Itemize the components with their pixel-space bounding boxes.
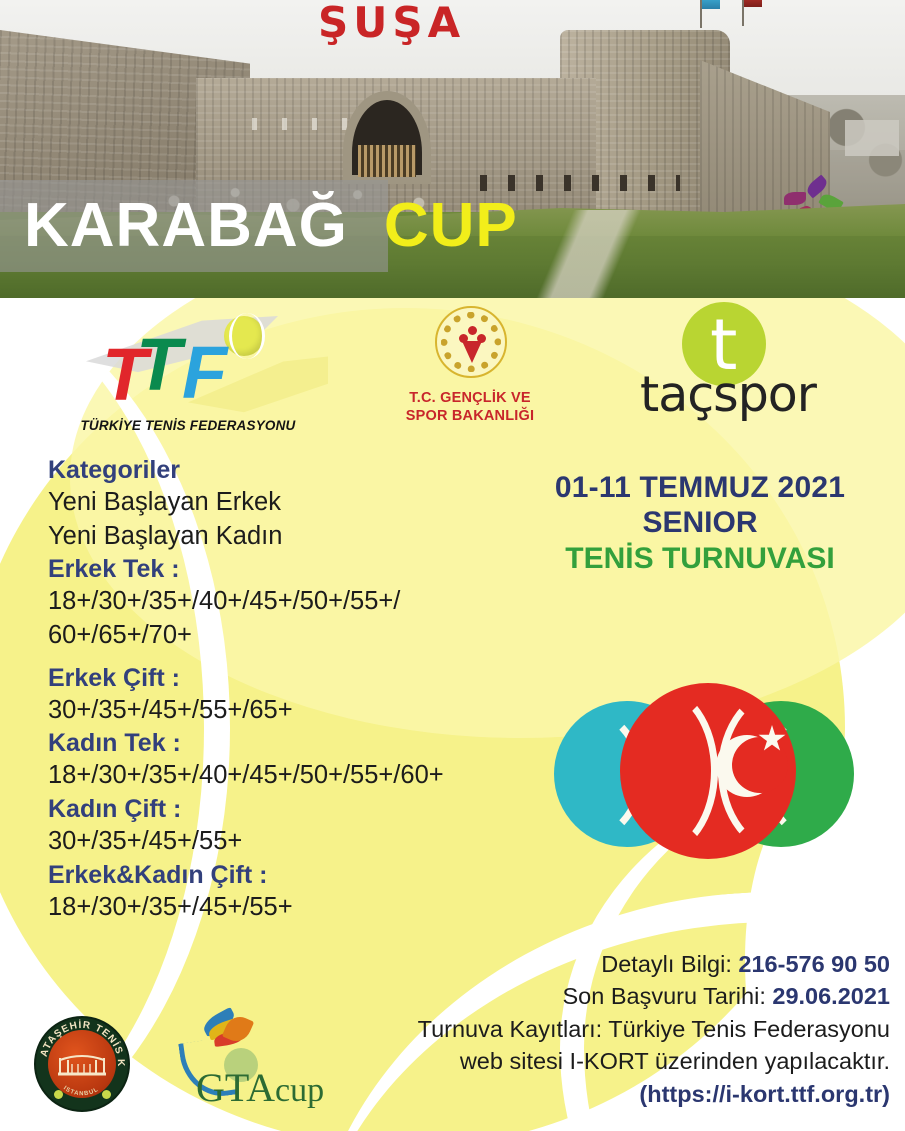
flag-pole-left — [700, 0, 702, 28]
tacspor-wordmark: taçspor — [640, 370, 840, 419]
contact-info-value: 216-576 90 50 — [738, 951, 890, 977]
poster-body: T T F TÜRKİYE TENİS FEDERASYONU T.C. GEN… — [0, 298, 905, 1131]
svg-text:ISTANBUL: ISTANBUL — [62, 1085, 100, 1097]
categories-block: Kategoriler Yeni Başlayan Erkek Yeni Baş… — [48, 454, 528, 924]
category-values-erkek-tek-line2: 60+/65+/70+ — [48, 619, 528, 653]
flag-cloth-blue — [702, 0, 720, 9]
gtacup-logo: GTAcup — [168, 1010, 338, 1122]
category-values-kadin-tek: 18+/30+/35+/40+/45+/50+/55+/60+ — [48, 759, 528, 793]
ministry-seal-icon — [435, 306, 507, 378]
title-karabag: KARABAĞ — [24, 195, 348, 257]
club-ring-text: ATAŞEHİR TENİS KULÜBÜ ISTANBUL — [34, 1016, 130, 1112]
seam-red-left — [598, 685, 718, 857]
flag-pole-right — [742, 0, 744, 26]
category-values-erkek-cift: 30+/35+/45+/55+/65+ — [48, 694, 528, 728]
contact-info-label: Detaylı Bilgi: — [601, 951, 732, 977]
registration-url[interactable]: (https://i-kort.ttf.org.tr) — [330, 1078, 890, 1110]
category-values-mixed-cift: 18+/30+/35+/45+/55+ — [48, 891, 528, 925]
club-ring-svg: ATAŞEHİR TENİS KULÜBÜ ISTANBUL — [34, 1016, 130, 1112]
gta-word-upper: GTA — [196, 1065, 275, 1110]
ministry-line-2: SPOR BAKANLIĞI — [406, 408, 534, 424]
spacer-1 — [48, 653, 528, 662]
tennis-balls-graphic — [548, 683, 868, 863]
registration-line-2: web sitesi I-KORT üzerinden yapılacaktır… — [330, 1045, 890, 1077]
ministry-figures-icon — [459, 326, 485, 364]
registration-line-1: Turnuva Kayıtları: Türkiye Tenis Federas… — [330, 1013, 890, 1045]
ministry-logo: T.C. GENÇLİK VE SPOR BAKANLIĞI — [385, 306, 555, 441]
figure-bodies — [462, 341, 482, 363]
category-label-erkek-tek: Erkek Tek : — [48, 553, 528, 585]
ministry-logo-text: T.C. GENÇLİK VE SPOR BAKANLIĞI — [385, 390, 555, 425]
tacspor-logo: t taçspor — [640, 302, 840, 442]
ttf-letter-2: T — [136, 328, 181, 402]
poster-title: KARABAĞ CUP — [0, 180, 905, 272]
ttf-letter-3: F — [182, 336, 227, 410]
gate-bars — [358, 145, 416, 177]
category-label-kadin-cift: Kadın Çift : — [48, 793, 528, 825]
flag-cloth-red — [744, 0, 762, 7]
ttf-logo: T T F TÜRKİYE TENİS FEDERASYONU — [78, 310, 298, 440]
category-label-erkek-cift: Erkek Çift : — [48, 662, 528, 694]
contact-block: Detaylı Bilgi: 216-576 90 50 Son Başvuru… — [330, 948, 890, 1110]
ministry-line-1: T.C. GENÇLİK VE — [409, 390, 530, 406]
categories-heading: Kategoriler — [48, 454, 528, 486]
event-dates: 01-11 TEMMUZ 2021 — [505, 470, 895, 505]
category-values-kadin-cift: 30+/35+/45+/55+ — [48, 825, 528, 859]
svg-text:ATAŞEHİR TENİS KULÜBÜ: ATAŞEHİR TENİS KULÜBÜ — [34, 1016, 126, 1068]
ttf-logo-name: TÜRKİYE TENİS FEDERASYONU — [78, 418, 298, 433]
susa-hillside-sign: ŞUŞA — [318, 2, 465, 44]
gta-word-lower: cup — [275, 1072, 324, 1109]
contact-deadline-line: Son Başvuru Tarihi: 29.06.2021 — [330, 980, 890, 1012]
contact-deadline-value: 29.06.2021 — [772, 983, 890, 1009]
category-plain-2: Yeni Başlayan Kadın — [48, 520, 528, 554]
event-info-block: 01-11 TEMMUZ 2021 SENIOR TENİS TURNUVASI — [505, 470, 895, 577]
atasehir-tennis-club-logo: ATAŞEHİR TENİS KULÜBÜ ISTANBUL — [34, 1016, 134, 1116]
figure-head-center — [468, 326, 477, 335]
contact-deadline-label: Son Başvuru Tarihi: — [563, 983, 766, 1009]
category-plain-1: Yeni Başlayan Erkek — [48, 486, 528, 520]
contact-info-line: Detaylı Bilgi: 216-576 90 50 — [330, 948, 890, 980]
category-label-mixed-cift: Erkek&Kadın Çift : — [48, 859, 528, 891]
event-type: TENİS TURNUVASI — [505, 541, 895, 577]
gta-wordmark: GTAcup — [196, 1068, 324, 1108]
category-values-erkek-tek-line1: 18+/30+/35+/40+/45+/50+/55+/ — [48, 585, 528, 619]
sponsor-logo-strip: T T F TÜRKİYE TENİS FEDERASYONU T.C. GEN… — [0, 298, 905, 443]
tennis-ball-icon — [224, 316, 264, 356]
title-cup: CUP — [384, 195, 518, 257]
category-label-kadin-tek: Kadın Tek : — [48, 727, 528, 759]
event-level: SENIOR — [505, 505, 895, 541]
background-building — [845, 120, 899, 156]
